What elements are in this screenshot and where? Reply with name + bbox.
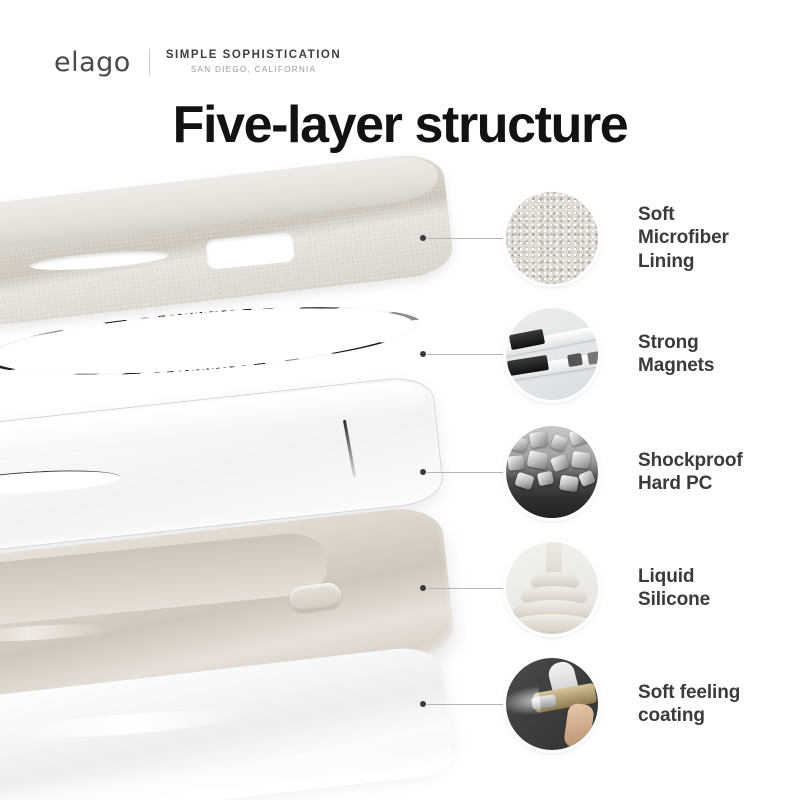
infographic-page: elago SIMPLE SOPHISTICATION SAN DIEGO, C… xyxy=(0,0,800,800)
brand-tagline-block: SIMPLE SOPHISTICATION SAN DIEGO, CALIFOR… xyxy=(166,48,341,76)
brand-header: elago SIMPLE SOPHISTICATION SAN DIEGO, C… xyxy=(54,44,341,80)
connector-line-5 xyxy=(420,701,506,707)
legend-label-magnets: Strong Magnets xyxy=(638,331,714,377)
pc-granule xyxy=(568,428,589,446)
legend-label-silicone: Liquid Silicone xyxy=(638,565,710,611)
connector-stroke xyxy=(427,704,506,705)
connector-stroke xyxy=(427,588,506,589)
exploded-product-stack xyxy=(0,160,470,800)
connector-dot-icon xyxy=(420,701,426,707)
spray-gun-hand xyxy=(563,702,595,749)
brand-divider xyxy=(149,49,150,75)
legend-label-microfiber: Soft Microfiber Lining xyxy=(638,203,729,273)
connector-stroke xyxy=(427,472,506,473)
connector-dot-icon xyxy=(420,469,426,475)
magnet-block-3 xyxy=(567,353,583,367)
legend-label-hardpc: Shockproof Hard PC xyxy=(638,449,743,495)
spray-mist xyxy=(506,686,541,718)
connector-dot-icon xyxy=(420,585,426,591)
connector-dot-icon xyxy=(420,235,426,241)
pc-granule xyxy=(571,451,591,469)
layer-legend: Soft Microfiber Lining Strong Magnets xyxy=(420,0,800,800)
legend-row-coating: Soft feeling coating xyxy=(420,656,740,752)
pc-granule xyxy=(550,454,570,473)
magnet-ring-thumbnail xyxy=(506,308,598,400)
brand-tagline: SIMPLE SOPHISTICATION xyxy=(166,48,341,62)
pc-granule xyxy=(527,450,549,469)
silicone-coil xyxy=(508,614,596,634)
pc-granule xyxy=(550,434,568,452)
pc-granule xyxy=(507,455,524,471)
pc-dark-base xyxy=(506,484,598,518)
microfiber-texture-thumbnail xyxy=(506,192,598,284)
legend-label-coating: Soft feeling coating xyxy=(638,681,740,727)
connector-line-4 xyxy=(420,585,506,591)
pc-granule xyxy=(511,436,529,452)
elago-logo: elago xyxy=(54,49,131,76)
connector-stroke xyxy=(427,238,506,239)
magnet-block-4 xyxy=(587,351,598,365)
legend-row-silicone: Liquid Silicone xyxy=(420,540,710,636)
pc-granules-thumbnail xyxy=(506,426,598,518)
connector-line-2 xyxy=(420,351,506,357)
connector-line-3 xyxy=(420,469,506,475)
pc-granule xyxy=(529,431,548,448)
legend-row-microfiber: Soft Microfiber Lining xyxy=(420,190,729,286)
connector-line-1 xyxy=(420,235,506,241)
connector-dot-icon xyxy=(420,351,426,357)
liquid-silicone-thumbnail xyxy=(506,542,598,634)
brand-location: SAN DIEGO, CALIFORNIA xyxy=(166,65,341,76)
legend-row-magnets: Strong Magnets xyxy=(420,306,714,402)
spray-gun-thumbnail xyxy=(506,658,598,750)
legend-row-hardpc: Shockproof Hard PC xyxy=(420,424,743,520)
connector-stroke xyxy=(427,354,506,355)
